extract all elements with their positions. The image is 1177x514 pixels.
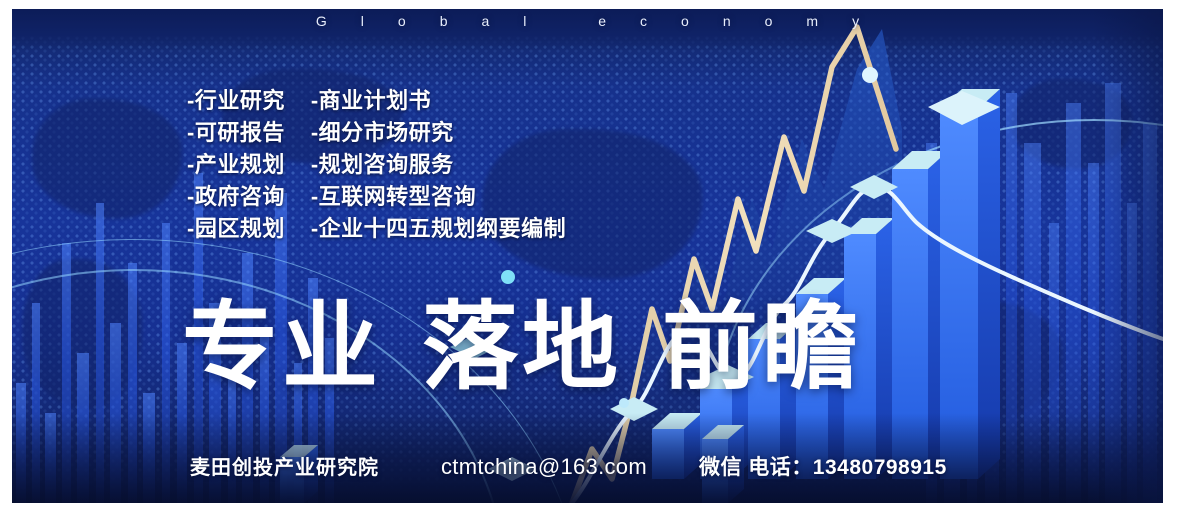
list-item: -园区规划 — [187, 215, 285, 243]
hero-word-2: 落地 — [422, 294, 622, 401]
chart-bar — [892, 151, 948, 479]
list-item: -细分市场研究 — [311, 119, 566, 147]
list-item: -互联网转型咨询 — [311, 183, 566, 211]
hero-title: 专业落地前瞻 — [182, 300, 862, 396]
list-item: -企业十四五规划纲要编制 — [311, 215, 566, 243]
chart-bar — [940, 89, 1000, 479]
list-item: -可研报告 — [187, 119, 285, 147]
contact-email[interactable]: ctmtchina@163.com — [441, 454, 647, 480]
service-list-right: -商业计划书 -细分市场研究 -规划咨询服务 -互联网转型咨询 -企业十四五规划… — [311, 87, 566, 243]
list-item: -规划咨询服务 — [311, 151, 566, 179]
list-item: -产业规划 — [187, 151, 285, 179]
header-global-economy: Global economy — [12, 13, 1163, 29]
banner-artboard: Global economy -行业研究 -可研报告 -产业规划 -政府咨询 -… — [12, 9, 1163, 503]
promotional-banner: Global economy -行业研究 -可研报告 -产业规划 -政府咨询 -… — [0, 0, 1177, 514]
economy-growth-chart — [12, 9, 1163, 503]
chart-node-dot — [862, 67, 878, 83]
list-item: -商业计划书 — [311, 87, 566, 115]
list-item: -政府咨询 — [187, 183, 285, 211]
contact-row: 麦田创投产业研究院 ctmtchina@163.com 微信 电话：134807… — [190, 451, 947, 481]
hero-word-3: 前瞻 — [662, 294, 862, 401]
contact-phone: 微信 电话：13480798915 — [699, 451, 947, 481]
list-item: -行业研究 — [187, 87, 285, 115]
chart-node-dot — [501, 270, 515, 284]
service-lists: -行业研究 -可研报告 -产业规划 -政府咨询 -园区规划 -商业计划书 -细分… — [187, 87, 566, 243]
hero-word-1: 专业 — [182, 294, 382, 401]
organization-name: 麦田创投产业研究院 — [190, 451, 379, 480]
service-list-left: -行业研究 -可研报告 -产业规划 -政府咨询 -园区规划 — [187, 87, 285, 243]
